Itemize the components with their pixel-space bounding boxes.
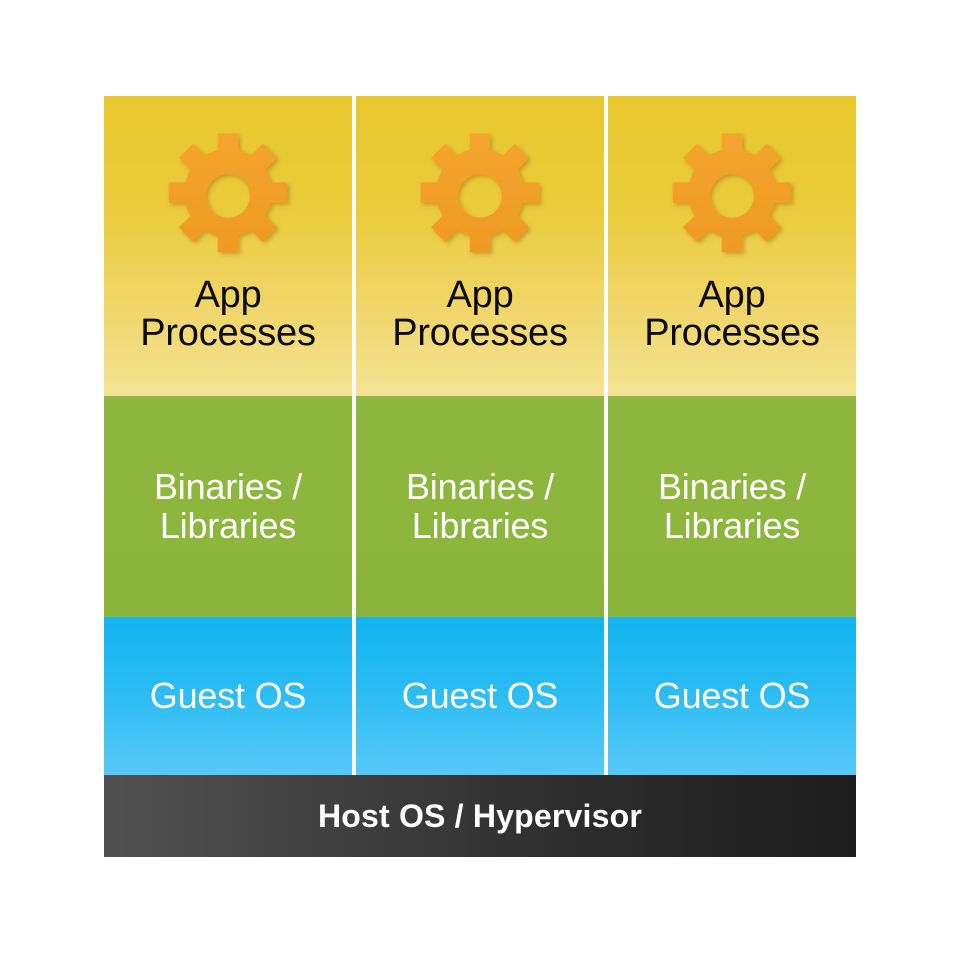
binaries-label-line2: Libraries: [406, 507, 554, 546]
guest-os-label-3: Guest OS: [654, 675, 810, 717]
binaries-label-line1: Binaries /: [154, 466, 302, 507]
binaries-label-line2: Libraries: [154, 507, 302, 546]
app-processes-label-1: App Processes: [140, 276, 316, 352]
guest-os-cell-2: Guest OS: [356, 617, 604, 775]
binaries-label-line2: Libraries: [658, 507, 806, 546]
binaries-libraries-label-3: Binaries / Libraries: [658, 468, 806, 546]
app-label-line2: Processes: [140, 314, 316, 352]
guest-os-cell-3: Guest OS: [608, 617, 856, 775]
app-processes-cell-2: App Processes: [356, 96, 604, 396]
gear-icon: [664, 128, 800, 264]
app-label-line2: Processes: [392, 314, 568, 352]
app-processes-cell-1: App Processes: [104, 96, 352, 396]
gear-icon: [412, 128, 548, 264]
binaries-libraries-label-2: Binaries / Libraries: [406, 468, 554, 546]
app-label-line1: App: [698, 274, 765, 316]
vm-column-3: App Processes Binaries / Libraries Guest…: [608, 96, 856, 775]
app-label-line1: App: [446, 274, 513, 316]
vm-column-2: App Processes Binaries / Libraries Guest…: [356, 96, 604, 775]
vm-column-1: App Processes Binaries / Libraries Guest…: [104, 96, 352, 775]
vm-columns-area: App Processes Binaries / Libraries Guest…: [104, 96, 856, 775]
app-processes-cell-3: App Processes: [608, 96, 856, 396]
app-processes-label-3: App Processes: [644, 276, 820, 352]
host-os-hypervisor-label: Host OS / Hypervisor: [318, 798, 642, 835]
host-os-hypervisor-bar: Host OS / Hypervisor: [104, 775, 856, 857]
app-processes-label-2: App Processes: [392, 276, 568, 352]
binaries-libraries-cell-2: Binaries / Libraries: [356, 396, 604, 617]
binaries-label-line1: Binaries /: [406, 466, 554, 507]
binaries-label-line1: Binaries /: [658, 466, 806, 507]
vm-architecture-diagram: App Processes Binaries / Libraries Guest…: [104, 96, 856, 857]
guest-os-label-2: Guest OS: [402, 675, 558, 717]
gear-icon: [160, 128, 296, 264]
app-label-line1: App: [194, 274, 261, 316]
guest-os-label-1: Guest OS: [150, 675, 306, 717]
guest-os-cell-1: Guest OS: [104, 617, 352, 775]
app-label-line2: Processes: [644, 314, 820, 352]
binaries-libraries-cell-1: Binaries / Libraries: [104, 396, 352, 617]
binaries-libraries-label-1: Binaries / Libraries: [154, 468, 302, 546]
binaries-libraries-cell-3: Binaries / Libraries: [608, 396, 856, 617]
